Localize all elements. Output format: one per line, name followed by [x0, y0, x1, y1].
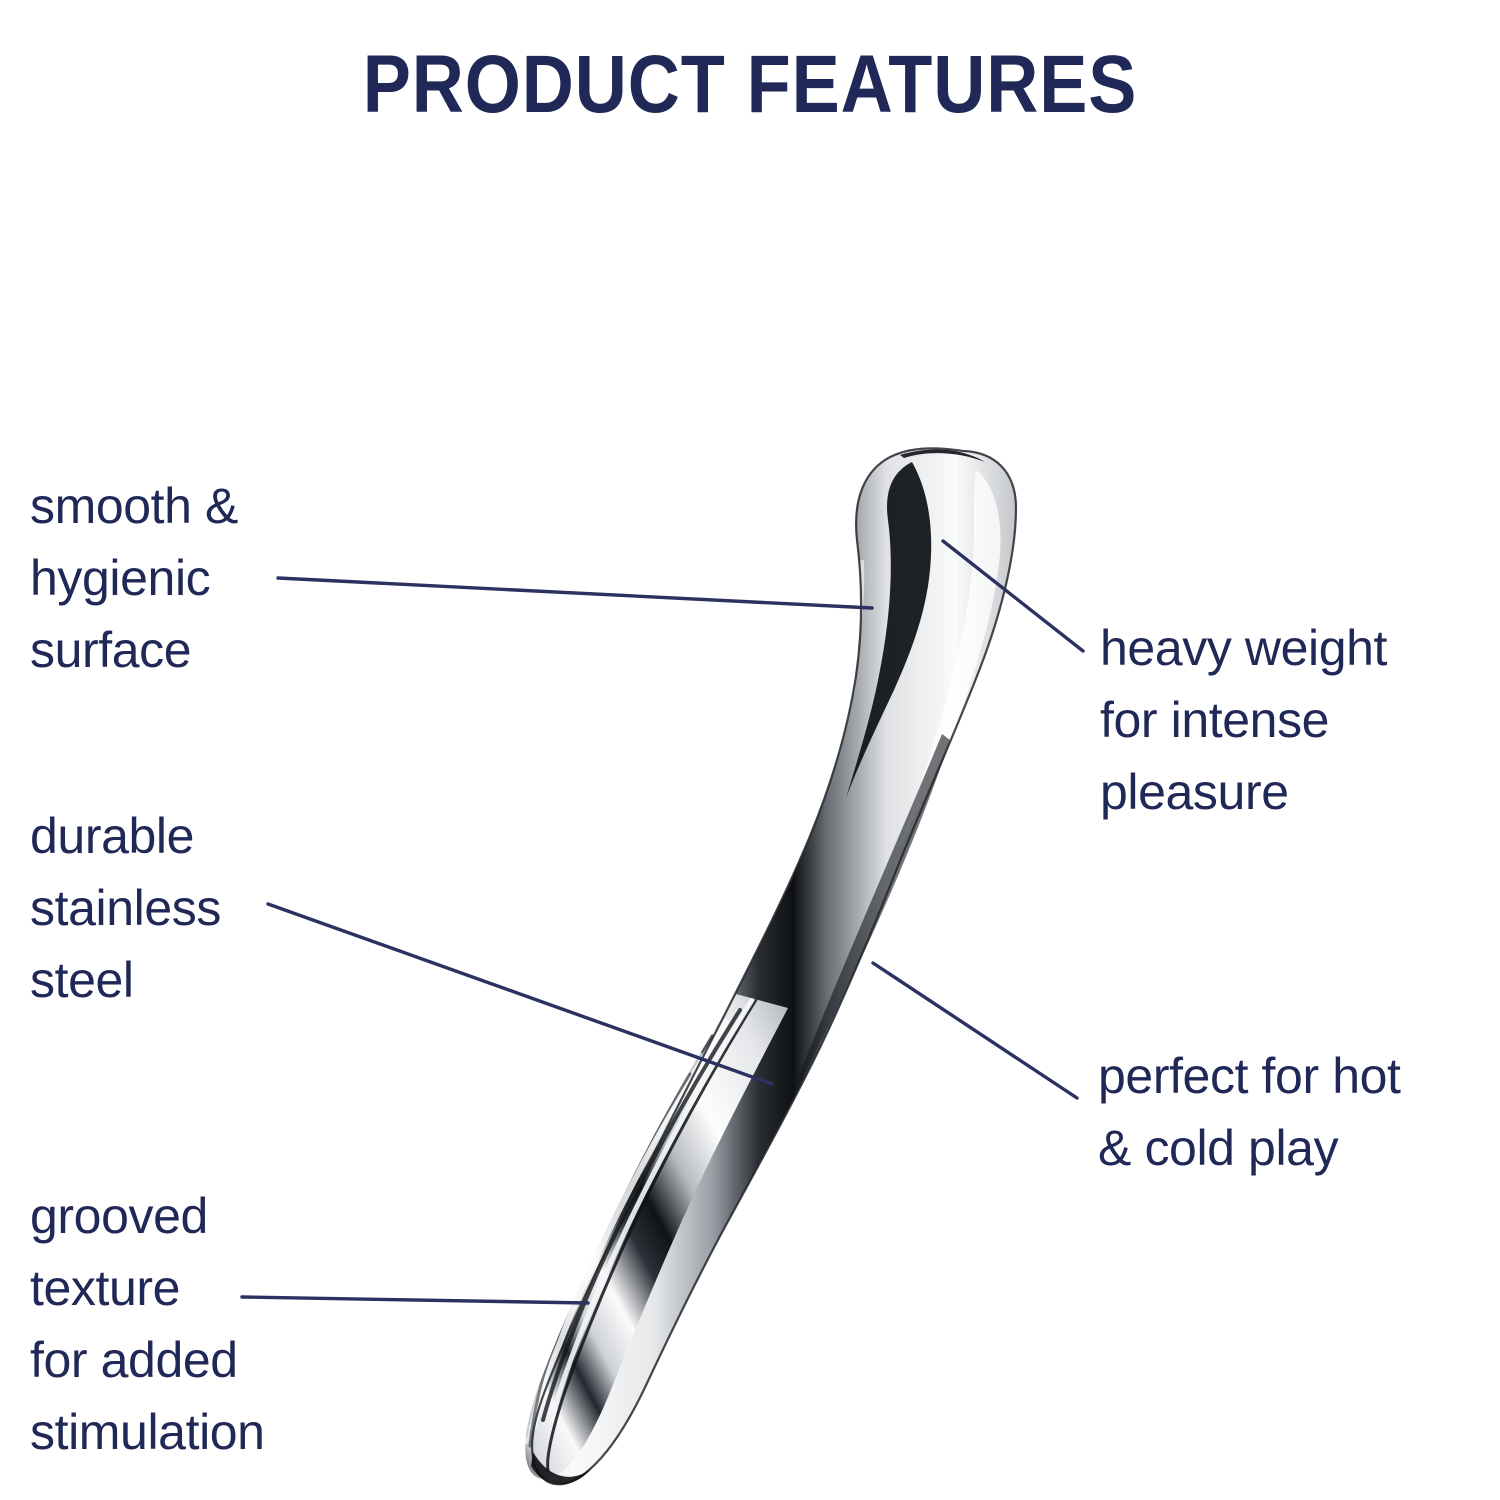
leader-line-hotcold: [873, 963, 1077, 1098]
leader-line-durable: [268, 904, 772, 1084]
feature-label-grooved-texture: grooved texture for added stimulation: [30, 1180, 360, 1468]
leader-line-smooth: [278, 578, 872, 608]
feature-label-hot-cold-play: perfect for hot & cold play: [1098, 1040, 1498, 1184]
feature-label-durable-stainless-steel: durable stainless steel: [30, 800, 330, 1016]
grooved-texture-region: [281, 813, 1101, 1500]
product-features-infographic: PRODUCT FEATURES: [0, 0, 1500, 1500]
feature-label-heavy-weight: heavy weight for intense pleasure: [1100, 612, 1490, 828]
product-body: [281, 430, 1101, 1500]
feature-label-smooth-hygienic-surface: smooth & hygienic surface: [30, 470, 330, 686]
